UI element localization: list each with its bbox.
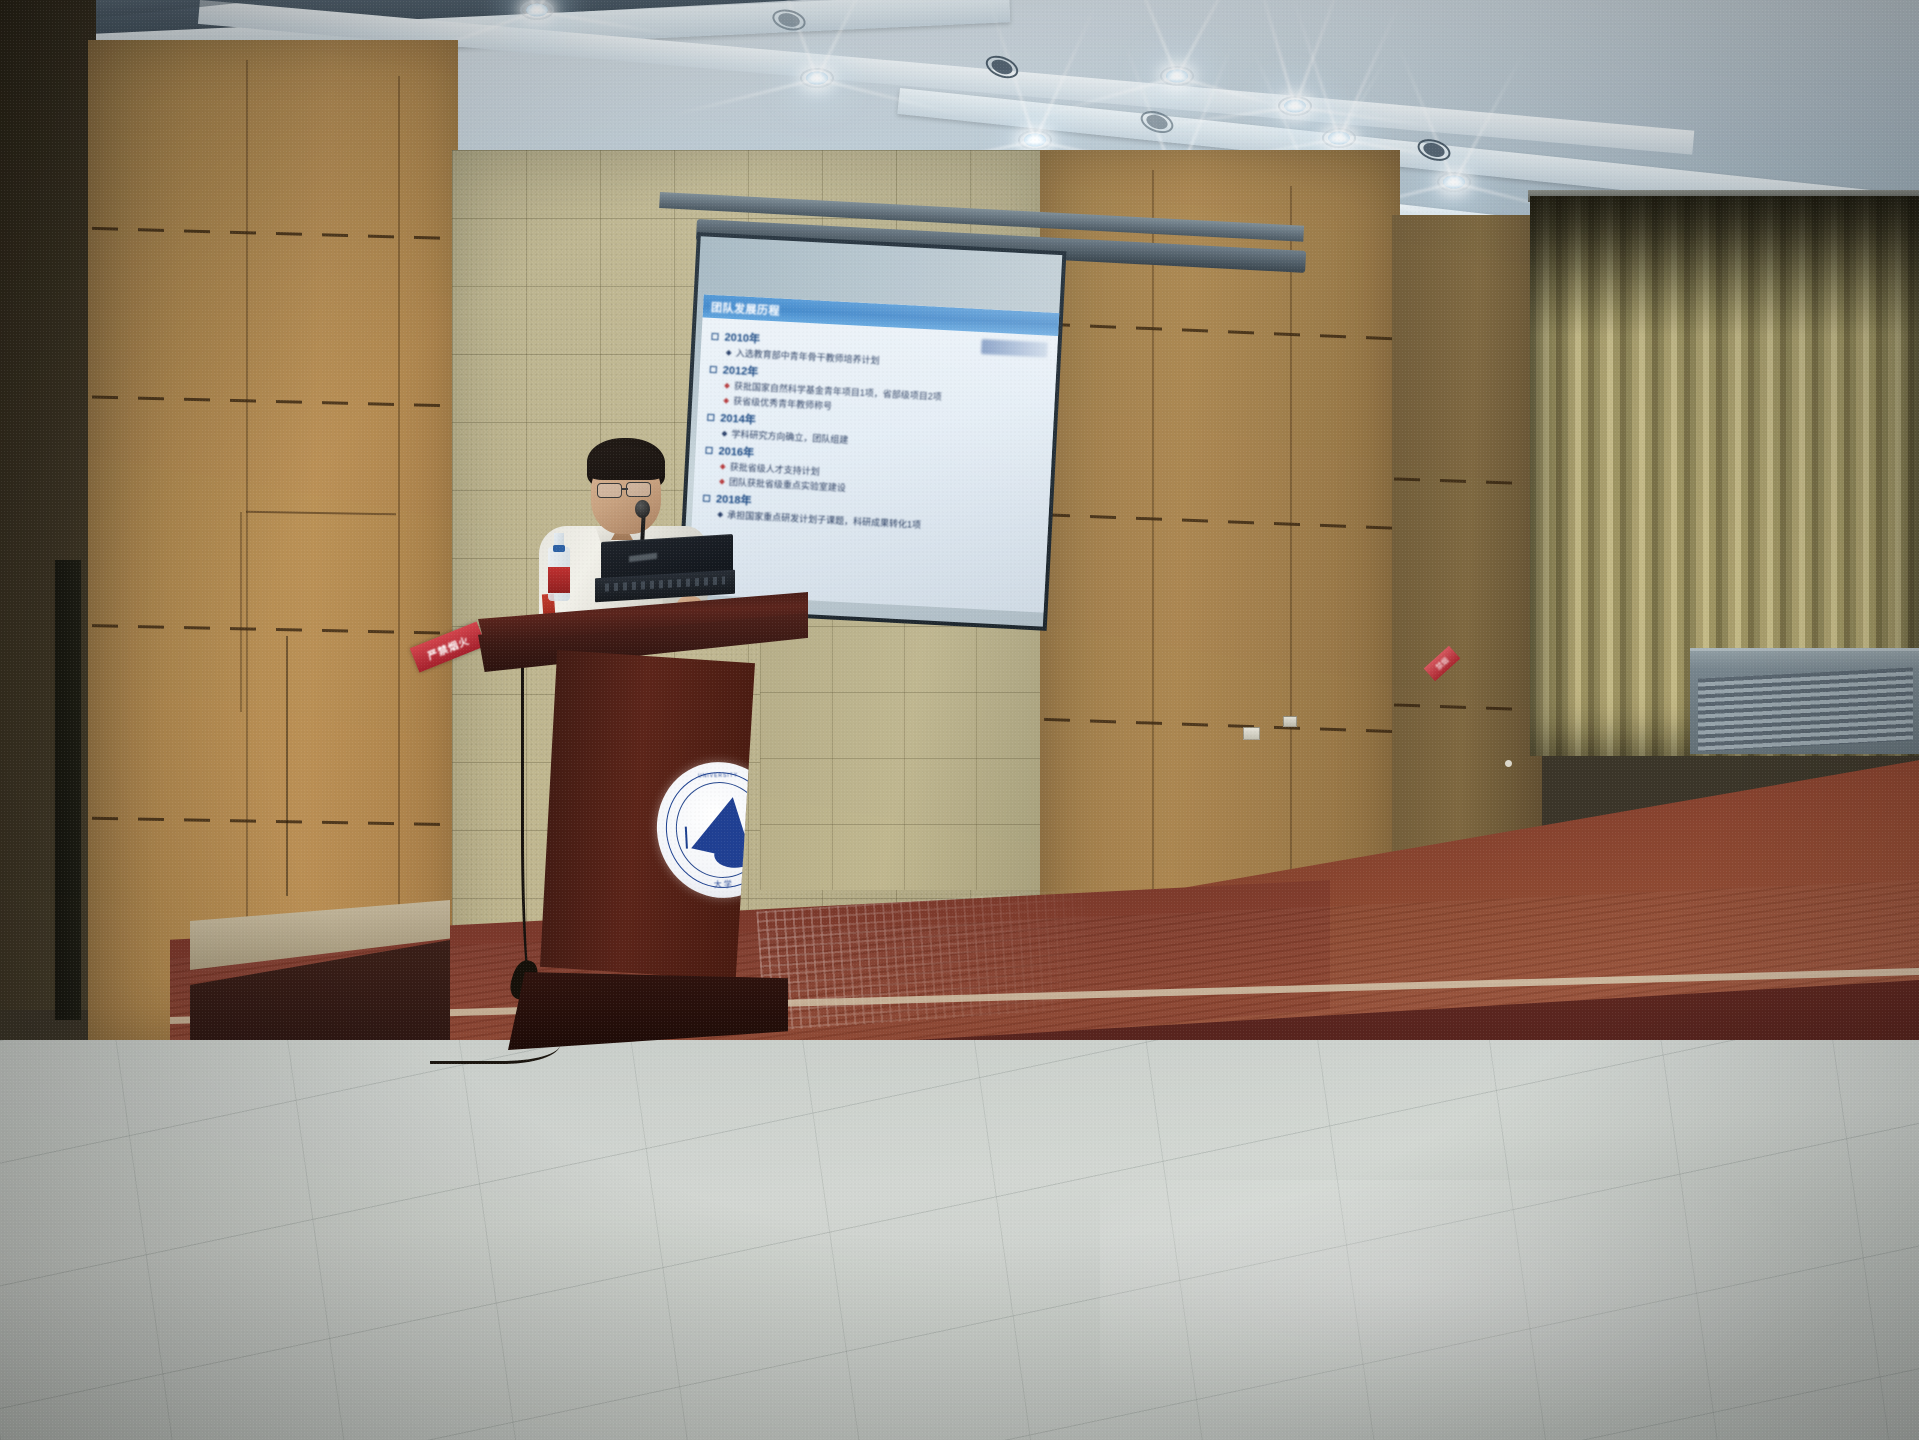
wall-marker-dot bbox=[1505, 760, 1512, 767]
lectern: UNIVERSITY 大学 bbox=[478, 592, 808, 1052]
wall-left-dark bbox=[0, 0, 96, 1010]
door-frame-line bbox=[286, 636, 288, 896]
microphone-head bbox=[635, 500, 650, 518]
eyeglasses-bridge bbox=[621, 488, 628, 490]
square-bullet-icon bbox=[707, 413, 714, 420]
ceiling-light-on-9 bbox=[1278, 96, 1312, 116]
screen-surface: 团队发展历程 2010年 入选教育部中青年骨干教师培养计划 2012年 bbox=[681, 236, 1062, 626]
diamond-bullet-icon bbox=[717, 511, 723, 517]
laptop[interactable] bbox=[595, 538, 735, 600]
diamond-bullet-icon bbox=[726, 350, 732, 356]
wood-wall-left bbox=[88, 40, 458, 1040]
wall-plate-2[interactable] bbox=[1283, 716, 1297, 727]
ceiling-light-on-2 bbox=[800, 68, 834, 88]
presenter-hair-front bbox=[587, 446, 665, 480]
sign-right-text: 禁烟 bbox=[1433, 655, 1450, 672]
lectern-body: UNIVERSITY 大学 bbox=[540, 650, 755, 980]
eyeglasses-icon bbox=[597, 483, 622, 498]
wood-wall-right bbox=[1040, 150, 1400, 970]
square-bullet-icon bbox=[710, 365, 717, 372]
university-seal: UNIVERSITY 大学 bbox=[653, 761, 788, 899]
seal-chinese-text: 大学 bbox=[660, 878, 789, 891]
panel-door-left bbox=[240, 512, 242, 712]
slide-heading-text: 2016年 bbox=[718, 442, 754, 460]
slide-heading-text: 2014年 bbox=[720, 409, 756, 427]
ceiling-light-on-4 bbox=[1160, 66, 1194, 86]
bottle-label bbox=[548, 567, 570, 593]
wall-plate-1[interactable] bbox=[1243, 727, 1260, 740]
laptop-brand-logo bbox=[629, 553, 657, 562]
projection-screen: 团队发展历程 2010年 入选教育部中青年骨干教师培养计划 2012年 bbox=[677, 232, 1066, 631]
wall-seam-vert-2 bbox=[398, 76, 400, 1016]
diamond-bullet-icon bbox=[720, 463, 726, 469]
slide-heading-text: 2010年 bbox=[724, 329, 760, 347]
hvac-radiator-unit bbox=[1690, 648, 1919, 754]
slide-bullet-text: 获省级优秀青年教师称号 bbox=[733, 394, 833, 412]
seal-tick-right bbox=[754, 823, 757, 845]
ceiling-light-on-1 bbox=[520, 0, 554, 20]
diamond-bullet-icon bbox=[724, 382, 730, 388]
curtain-top-shadow bbox=[1530, 196, 1919, 336]
slide-title: 团队发展历程 bbox=[703, 298, 781, 318]
seal-english-text: UNIVERSITY bbox=[654, 772, 782, 780]
lectern-base bbox=[508, 972, 788, 1050]
ceiling-light-on-8 bbox=[1437, 172, 1471, 192]
slide-heading-text: 2012年 bbox=[722, 362, 758, 380]
floor-light-reflection bbox=[1100, 1180, 1860, 1440]
ceiling-light-on-7 bbox=[1322, 128, 1356, 148]
square-bullet-icon bbox=[711, 332, 718, 339]
wall-seam-vert-3 bbox=[1152, 170, 1154, 960]
slide-heading-text: 2018年 bbox=[716, 490, 752, 508]
radiator-slats bbox=[1698, 667, 1913, 751]
slide-body: 2010年 入选教育部中青年骨干教师培养计划 2012年 获批国家自然科学基金青… bbox=[692, 317, 1060, 537]
diamond-bullet-icon bbox=[719, 478, 725, 484]
water-bottle bbox=[548, 529, 570, 601]
diamond-bullet-icon bbox=[722, 430, 728, 436]
lecture-hall-photo: 严禁烟火 禁烟 团队发展历程 2010年 入选教育部中青年骨 bbox=[0, 0, 1919, 1440]
bottle-cap bbox=[553, 545, 565, 552]
diamond-bullet-icon bbox=[723, 397, 729, 403]
door-gap bbox=[55, 560, 81, 1020]
wall-seam-vert-4 bbox=[1290, 186, 1292, 956]
eyeglasses-icon bbox=[626, 482, 651, 497]
wall-seam-vert-1 bbox=[246, 60, 248, 1020]
ceiling-light-on-3 bbox=[1018, 130, 1052, 150]
presentation-slide: 团队发展历程 2010年 入选教育部中青年骨干教师培养计划 2012年 bbox=[688, 294, 1061, 612]
